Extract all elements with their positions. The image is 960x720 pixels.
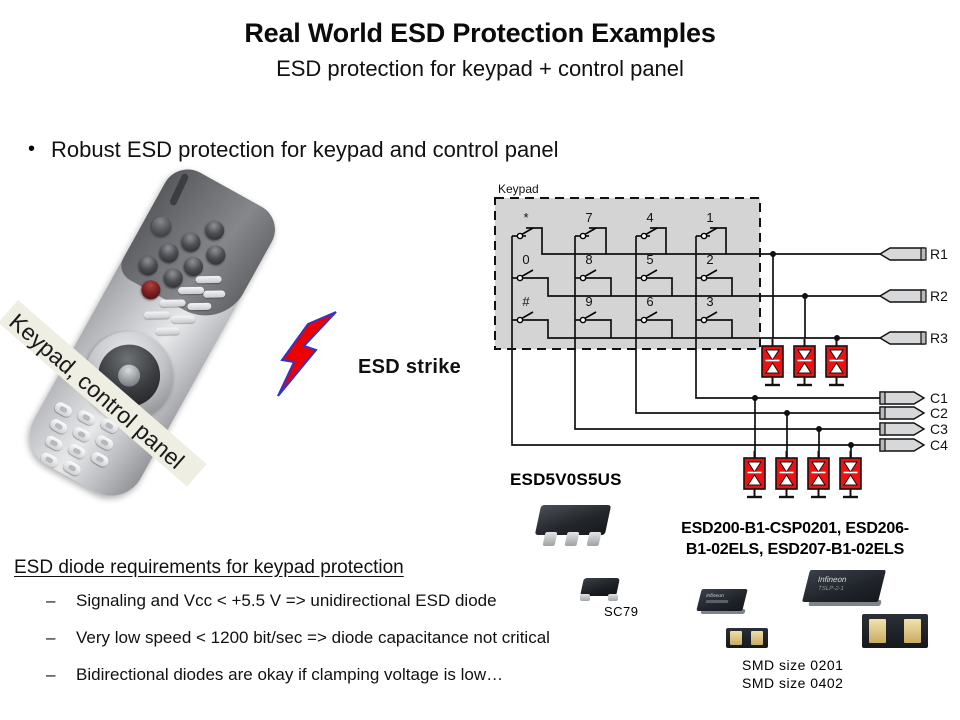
svg-text:2: 2 — [706, 252, 713, 267]
sc79-package-photo — [578, 578, 622, 604]
svg-text:3: 3 — [706, 294, 713, 309]
column-pin-labels: C1C2 C3C4 — [930, 390, 948, 453]
remote-slim-key — [178, 287, 204, 294]
requirement-text: Very low speed < 1200 bit/sec => diode c… — [76, 627, 550, 649]
smd-0402-label: SMD size 0402 — [742, 674, 843, 692]
bullet-text: Robust ESD protection for keypad and con… — [51, 136, 559, 163]
column-junction-dots — [752, 395, 854, 448]
remote-nav-center-button — [114, 361, 144, 391]
keypad-box-label: Keypad — [498, 182, 539, 196]
svg-text:R3: R3 — [930, 330, 948, 346]
smd-size-labels: SMD size 0201 SMD size 0402 — [742, 656, 843, 692]
remote-keypad-key — [94, 433, 115, 451]
remote-keypad-key — [53, 400, 74, 418]
remote-keypad-key — [43, 434, 64, 452]
page-title: Real World ESD Protection Examples — [0, 18, 960, 49]
page-subtitle: ESD protection for keypad + control pane… — [0, 56, 960, 82]
svg-text:4: 4 — [646, 210, 653, 225]
bullet-row: • Robust ESD protection for keypad and c… — [28, 136, 788, 163]
requirement-item: – Very low speed < 1200 bit/sec => diode… — [46, 627, 550, 649]
svg-text:7: 7 — [585, 210, 592, 225]
row-pins — [880, 248, 926, 344]
svg-text:8: 8 — [585, 252, 592, 267]
requirement-text: Signaling and Vcc < +5.5 V => unidirecti… — [76, 590, 497, 612]
remote-slim-key — [171, 316, 195, 323]
sot-package-photo — [534, 505, 612, 553]
svg-text:R2: R2 — [930, 288, 948, 304]
remote-keypad-key — [66, 442, 87, 460]
smd-0402-pads-photo — [862, 614, 928, 654]
esd-strike-label: ESD strike — [358, 356, 461, 379]
svg-text:5: 5 — [646, 252, 653, 267]
keypad-schematic: Keypad *741 0 — [490, 180, 960, 500]
row-pin-labels: R1R2R3 — [930, 246, 948, 346]
requirements-heading: ESD diode requirements for keypad protec… — [14, 557, 404, 579]
column-esd-diodes — [744, 451, 861, 497]
svg-text:R1: R1 — [930, 246, 948, 262]
remote-slim-key — [155, 327, 179, 334]
svg-text:*: * — [523, 210, 528, 225]
smd-0201-pads-photo — [726, 628, 768, 652]
remote-slim-key — [160, 299, 186, 306]
infineon-logo-small: Infineon — [705, 593, 724, 599]
remote-slim-key — [144, 311, 170, 318]
svg-text:1: 1 — [706, 210, 713, 225]
svg-text:C2: C2 — [930, 405, 948, 421]
dash-marker: – — [46, 664, 60, 686]
infineon-logo-large: Infineon — [817, 575, 848, 584]
column-pins — [880, 392, 924, 451]
part-label-line-2: B1-02ELS, ESD207-B1-02ELS — [640, 539, 950, 560]
column-bus-wiring — [512, 349, 880, 458]
tslp-package-photo: Infineon TSLP-2-1 — [806, 570, 882, 614]
svg-text:C1: C1 — [930, 390, 948, 406]
remote-keypad-key — [62, 459, 83, 477]
remote-keypad-key — [48, 417, 69, 435]
dash-marker: – — [46, 590, 60, 612]
remote-slim-key — [187, 303, 211, 310]
sc79-label: SC79 — [604, 604, 639, 619]
remote-slim-key — [196, 276, 222, 283]
remote-slim-key — [203, 290, 225, 297]
svg-text:6: 6 — [646, 294, 653, 309]
remote-keypad-key — [76, 408, 97, 426]
bullet-marker: • — [28, 136, 35, 162]
row-esd-diodes — [762, 339, 847, 385]
requirement-text: Bidirectional diodes are okay if clampin… — [76, 664, 503, 686]
svg-text:#: # — [522, 294, 530, 309]
requirement-item: – Signaling and Vcc < +5.5 V => unidirec… — [46, 590, 497, 612]
svg-text:0: 0 — [522, 252, 529, 267]
svg-text:C3: C3 — [930, 421, 948, 437]
dash-marker: – — [46, 627, 60, 649]
tslp-marking: TSLP-2-1 — [817, 586, 844, 592]
keypad-boundary — [495, 198, 760, 349]
part-label-esd5v0s5us: ESD5V0S5US — [510, 470, 622, 490]
requirement-item: – Bidirectional diodes are okay if clamp… — [46, 664, 503, 686]
csp0201-package-photo: Infineon — [699, 589, 745, 619]
remote-keypad-key — [71, 425, 92, 443]
part-label-esd200-family: ESD200-B1-CSP0201, ESD206- B1-02ELS, ESD… — [640, 518, 950, 560]
remote-keypad-key — [89, 450, 110, 468]
remote-keypad-key — [39, 451, 60, 469]
esd-lightning-bolt-icon — [258, 310, 348, 400]
smd-0201-label: SMD size 0201 — [742, 656, 843, 674]
svg-text:C4: C4 — [930, 437, 948, 453]
svg-text:9: 9 — [585, 294, 592, 309]
part-label-line-1: ESD200-B1-CSP0201, ESD206- — [640, 518, 950, 539]
